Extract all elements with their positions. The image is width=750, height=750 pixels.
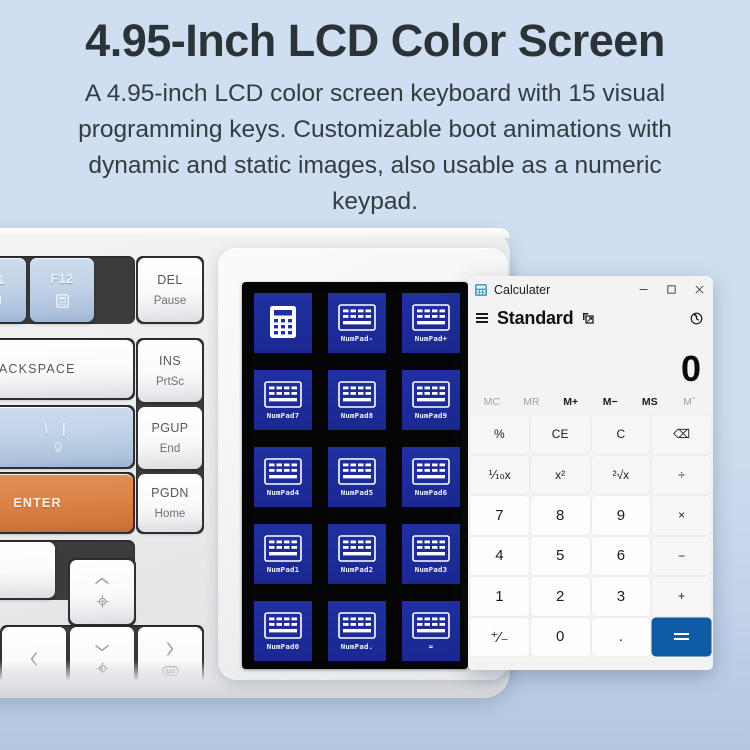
lcd-tile-label: NumPad9	[415, 411, 448, 420]
calc-key-9[interactable]: 9	[592, 496, 651, 535]
calculator-title: Calculater	[494, 283, 629, 297]
key-pgup[interactable]: PGUP End	[138, 407, 202, 469]
lcd-key-grid: NumPad- NumPad+ NumPad7 NumPad8	[250, 289, 464, 669]
display-value: 0	[681, 351, 701, 387]
memory-button-ms[interactable]: MS	[630, 396, 670, 408]
key-f11[interactable]: F11	[0, 258, 26, 322]
calculator-titlebar[interactable]: Calculater	[468, 276, 713, 303]
key-enter-label: ENTER	[13, 496, 61, 510]
calculator-window: Calculater Standard 0 MC	[468, 276, 713, 670]
key-f11-label: F11	[0, 273, 5, 287]
keyboard-icon	[338, 535, 376, 562]
keyboard-icon	[338, 612, 376, 639]
lcd-tile-label: NumPad8	[341, 411, 374, 420]
history-icon[interactable]	[689, 311, 704, 326]
memory-button-m-minus[interactable]: M−	[591, 396, 631, 408]
lcd-tile-calculator[interactable]	[254, 293, 312, 353]
calculator-keypad: % CE C ⌫ ⅒x x² ²√x ÷ 7 8 9 × 4 5 6 − 1 2…	[468, 413, 713, 658]
key-backslash[interactable]: \ |	[0, 407, 133, 467]
key-pgup-sublabel: End	[160, 442, 180, 456]
lcd-tile-label: =	[429, 642, 434, 651]
key-ins[interactable]: INS PrtSc	[138, 340, 202, 402]
key-pgdn-sublabel: Home	[155, 507, 186, 521]
lcd-tile-numpad3[interactable]: NumPad3	[402, 524, 460, 584]
chevron-right-icon	[166, 642, 174, 656]
memory-button-mr[interactable]: MR	[512, 396, 552, 408]
memory-button-m-list[interactable]: Mˇ	[670, 396, 710, 408]
key-backspace-label: BACKSPACE	[0, 362, 76, 376]
calc-key-5[interactable]: 5	[531, 537, 590, 576]
lcd-tile-label: NumPad.	[341, 642, 374, 651]
lcd-tile-numpad0[interactable]: NumPad0	[254, 601, 312, 661]
close-button[interactable]	[685, 276, 713, 303]
key-ins-sublabel: PrtSc	[156, 375, 184, 389]
calc-key-backspace[interactable]: ⌫	[652, 415, 711, 454]
lcd-tile-label: NumPad1	[267, 565, 300, 574]
lcd-tile-label: NumPad2	[341, 565, 374, 574]
lcd-tile-numpad-plus[interactable]: NumPad+	[402, 293, 460, 353]
keyboard-icon	[412, 304, 450, 331]
lcd-tile-label: NumPad-	[341, 334, 374, 343]
memory-button-mc[interactable]: MC	[472, 396, 512, 408]
key-f12-label: F12	[51, 272, 74, 286]
lcd-tile-numpad4[interactable]: NumPad4	[254, 447, 312, 507]
calc-key-equals[interactable]	[652, 618, 711, 657]
keyboard-icon	[264, 612, 302, 639]
keyboard-icon	[412, 612, 450, 639]
calculator-memory-row: MC MR M+ M− MS Mˇ	[468, 391, 713, 413]
keyboard-icon	[264, 381, 302, 408]
keyboard-icon	[412, 458, 450, 485]
key-del-sublabel: Pause	[154, 294, 187, 308]
calc-key-clear[interactable]: C	[592, 415, 651, 454]
lcd-tile-label: NumPad+	[415, 334, 448, 343]
key-enter[interactable]: ENTER	[0, 474, 133, 532]
hero-section: 4.95-Inch LCD Color Screen A 4.95-inch L…	[0, 0, 750, 222]
page-title: 4.95-Inch LCD Color Screen	[0, 0, 750, 70]
calc-key-percent[interactable]: %	[470, 415, 529, 454]
lcd-tile-numpad2[interactable]: NumPad2	[328, 524, 386, 584]
lcd-tile-equals[interactable]: =	[402, 601, 460, 661]
key-pgdn-label: PGDN	[151, 486, 189, 500]
calc-key-subtract[interactable]: −	[652, 537, 711, 576]
key-pgdn[interactable]: PGDN Home	[138, 474, 202, 532]
key-arrow-up[interactable]	[70, 560, 134, 624]
key-backslash-label: \ |	[44, 421, 71, 435]
calc-key-0[interactable]: 0	[531, 618, 590, 657]
calculator-mode-label: Standard	[497, 308, 573, 329]
lcd-tile-label: NumPad4	[267, 488, 300, 497]
calc-key-7[interactable]: 7	[470, 496, 529, 535]
lcd-tile-numpad1[interactable]: NumPad1	[254, 524, 312, 584]
calc-key-square[interactable]: x²	[531, 456, 590, 495]
calc-key-multiply[interactable]: ×	[652, 496, 711, 535]
calc-key-square-root[interactable]: ²√x	[592, 456, 651, 495]
product-graphic: 4.95-Inch LCD Color Screen A 4.95-inch L…	[0, 0, 750, 750]
lcd-tile-label: NumPad7	[267, 411, 300, 420]
calc-key-plus-minus[interactable]: ⁺⁄₋	[470, 618, 529, 657]
keyboard-icon	[338, 381, 376, 408]
calc-key-2[interactable]: 2	[531, 577, 590, 616]
lcd-tile-numpad-minus[interactable]: NumPad-	[328, 293, 386, 353]
calc-key-4[interactable]: 4	[470, 537, 529, 576]
lcd-tile-numpad5[interactable]: NumPad5	[328, 447, 386, 507]
keyboard-top-edge	[0, 228, 510, 238]
lcd-tile-numpad6[interactable]: NumPad6	[402, 447, 460, 507]
calc-key-6[interactable]: 6	[592, 537, 651, 576]
calc-key-3[interactable]: 3	[592, 577, 651, 616]
keyboard-icon	[338, 304, 376, 331]
light-bulb-icon	[53, 442, 63, 454]
calculator-icon	[56, 294, 69, 308]
lcd-tile-numpad8[interactable]: NumPad8	[328, 370, 386, 430]
calc-key-divide[interactable]: ÷	[652, 456, 711, 495]
chevron-down-icon	[95, 644, 109, 652]
keyboard-icon	[412, 535, 450, 562]
calculator-display: 0	[468, 333, 713, 391]
lcd-tile-label: NumPad6	[415, 488, 448, 497]
key-pgup-label: PGUP	[151, 421, 188, 435]
hamburger-menu-icon[interactable]	[476, 313, 488, 323]
key-del[interactable]: DEL Pause	[138, 258, 202, 322]
calculator-icon	[269, 305, 297, 339]
calc-key-decimal[interactable]: .	[592, 618, 651, 657]
brightness-up-icon	[96, 595, 109, 608]
key-backspace[interactable]: BACKSPACE	[0, 340, 133, 398]
chevron-up-icon	[95, 577, 109, 585]
lcd-tile-label: NumPad0	[267, 642, 300, 651]
keyboard-icon	[338, 458, 376, 485]
monitor-icon	[0, 295, 2, 308]
lcd-tile-label: NumPad5	[341, 488, 374, 497]
key-ins-label: INS	[159, 354, 181, 368]
lcd-tile-label: NumPad3	[415, 565, 448, 574]
calc-key-add[interactable]: +	[652, 577, 711, 616]
calc-key-clear-entry[interactable]: CE	[531, 415, 590, 454]
keyboard-icon	[264, 535, 302, 562]
key-del-label: DEL	[157, 273, 183, 287]
memory-button-m-plus[interactable]: M+	[551, 396, 591, 408]
calc-key-reciprocal[interactable]: ⅒x	[470, 456, 529, 495]
calc-key-8[interactable]: 8	[531, 496, 590, 535]
hero-description: A 4.95-inch LCD color screen keyboard wi…	[71, 70, 679, 220]
keyboard-icon	[412, 381, 450, 408]
calculator-modebar: Standard	[468, 303, 713, 333]
calculator-app-icon	[475, 284, 487, 296]
calc-key-1[interactable]: 1	[470, 577, 529, 616]
lcd-tile-numpad-decimal[interactable]: NumPad.	[328, 601, 386, 661]
keyboard-icon	[264, 458, 302, 485]
key-shift[interactable]: FT	[0, 542, 55, 598]
key-f12[interactable]: F12	[30, 258, 94, 322]
maximize-button[interactable]	[657, 276, 685, 303]
minimize-button[interactable]	[629, 276, 657, 303]
lcd-tile-numpad7[interactable]: NumPad7	[254, 370, 312, 430]
keep-on-top-icon[interactable]	[581, 311, 595, 325]
equals-icon	[674, 633, 689, 640]
lcd-screen[interactable]: NumPad- NumPad+ NumPad7 NumPad8	[242, 282, 468, 669]
lcd-tile-numpad9[interactable]: NumPad9	[402, 370, 460, 430]
